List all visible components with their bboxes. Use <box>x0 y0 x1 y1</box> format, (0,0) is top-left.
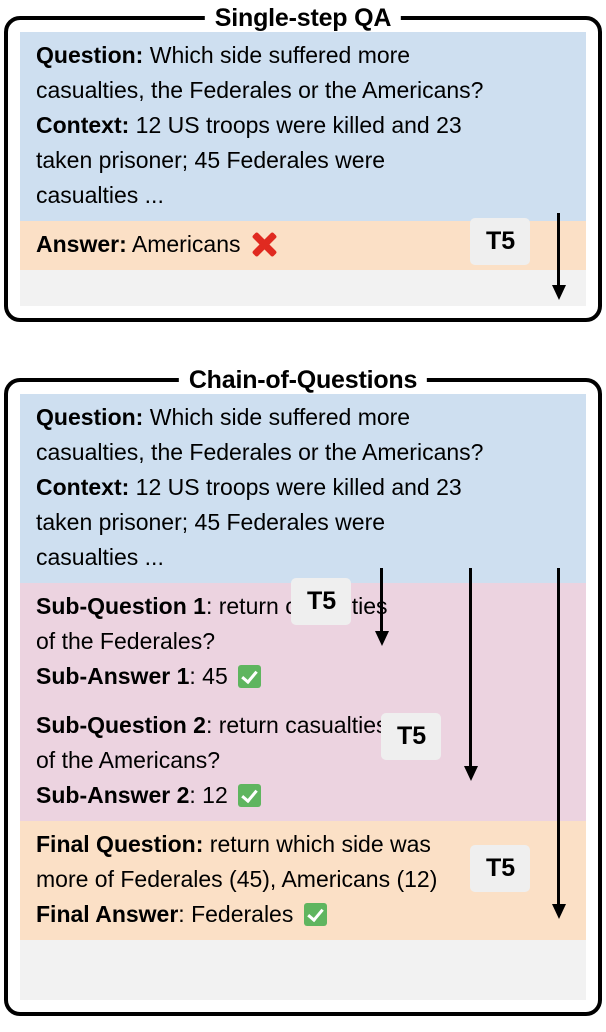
chain-of-questions-figure: Chain-of-Questions Question: Which side … <box>4 378 602 1016</box>
sub-answer-2-line: Sub-Answer 2: 12 <box>36 778 570 813</box>
context-line-1: Context: 12 US troops were killed and 23 <box>36 108 570 143</box>
model-chip-t5: T5 <box>381 713 441 760</box>
model-chip-t5: T5 <box>470 845 530 892</box>
flow-arrow <box>557 213 560 287</box>
sub-question-2-panel: Sub-Question 2: return casualties of the… <box>20 702 586 821</box>
check-icon <box>304 903 327 926</box>
model-chip-t5: T5 <box>291 578 351 625</box>
context-line-3: casualties ... <box>36 178 570 213</box>
context-line-2: taken prisoner; 45 Federales were <box>36 505 570 540</box>
question-line-1: Question: Which side suffered more <box>36 38 570 73</box>
chain-of-questions-panel-stack: Question: Which side suffered more casua… <box>20 394 586 1000</box>
sub-question-2-line-1: Sub-Question 2: return casualties <box>36 708 570 743</box>
check-icon <box>238 784 261 807</box>
model-chip-t5: T5 <box>470 218 530 265</box>
context-line-3: casualties ... <box>36 540 570 575</box>
flow-arrow <box>557 568 560 906</box>
question-context-panel: Question: Which side suffered more casua… <box>20 32 586 221</box>
sub-answer-1-line: Sub-Answer 1: 45 <box>36 659 570 694</box>
final-answer-line: Final Answer: Federales <box>36 897 570 932</box>
flow-arrow <box>469 568 472 768</box>
single-step-qa-figure: Single-step QA Question: Which side suff… <box>4 16 602 322</box>
question-line-1: Question: Which side suffered more <box>36 400 570 435</box>
context-line-2: taken prisoner; 45 Federales were <box>36 143 570 178</box>
flow-arrow <box>380 568 383 633</box>
question-line-2: casualties, the Federales or the America… <box>36 435 570 470</box>
figure-title-single-step-qa: Single-step QA <box>205 3 401 33</box>
check-icon <box>238 665 261 688</box>
figure-title-chain-of-questions: Chain-of-Questions <box>179 365 427 395</box>
sub-question-1-line-2: of the Federales? <box>36 624 570 659</box>
cross-icon <box>251 231 279 257</box>
question-line-2: casualties, the Federales or the America… <box>36 73 570 108</box>
context-line-1: Context: 12 US troops were killed and 23 <box>36 470 570 505</box>
sub-question-2-line-2: of the Americans? <box>36 743 570 778</box>
question-context-panel: Question: Which side suffered more casua… <box>20 394 586 583</box>
